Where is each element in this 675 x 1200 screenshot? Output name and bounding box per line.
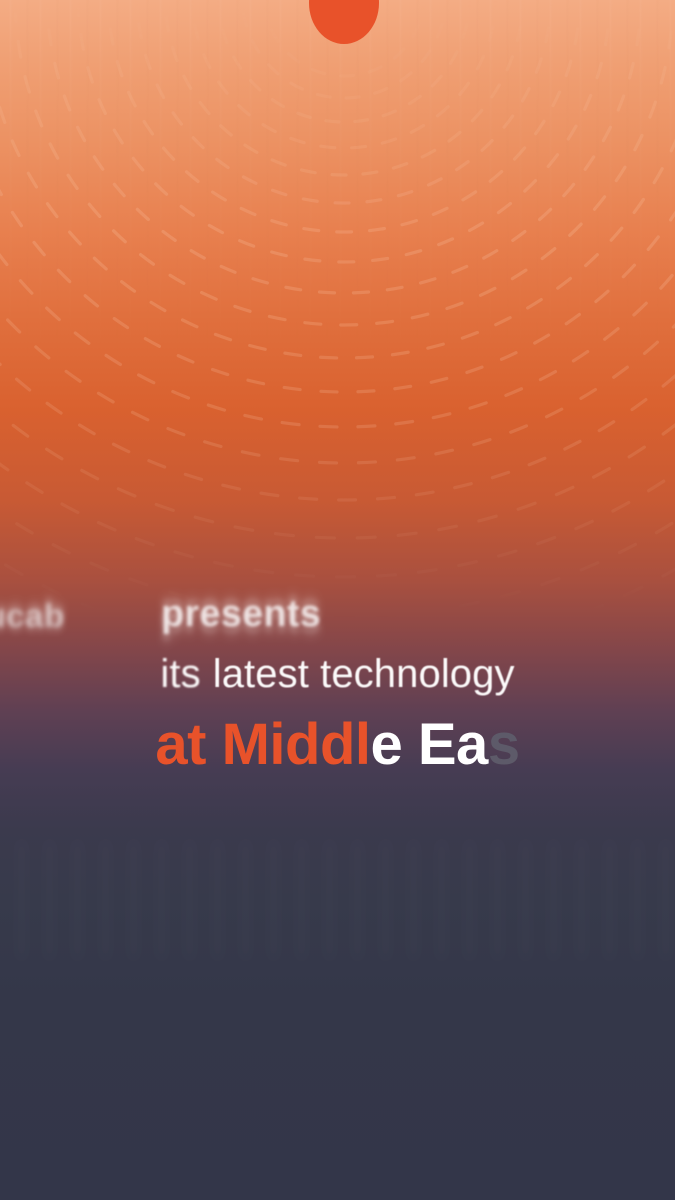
residual-ghost-text-band xyxy=(0,840,675,960)
brand-name-label: ucab xyxy=(0,599,65,632)
presents-word-label: presents xyxy=(161,595,321,633)
caption-stack: ucab presents itslatest technology at Mi… xyxy=(0,592,675,774)
caption-line-presents: ucab presents xyxy=(0,592,675,642)
title-segment-white: e Ea xyxy=(371,712,488,777)
caption-line-title: at Middle Eas xyxy=(0,716,675,774)
title-segment-ghost: s xyxy=(488,712,520,777)
subtitle-word-its: its xyxy=(160,654,200,694)
subtitle-word-rest: latest technology xyxy=(213,652,515,696)
promo-video-frame: ucab presents itslatest technology at Mi… xyxy=(0,0,675,1200)
caption-line-subtitle: itslatest technology xyxy=(0,654,675,694)
title-segment-orange: at Middl xyxy=(155,712,370,777)
